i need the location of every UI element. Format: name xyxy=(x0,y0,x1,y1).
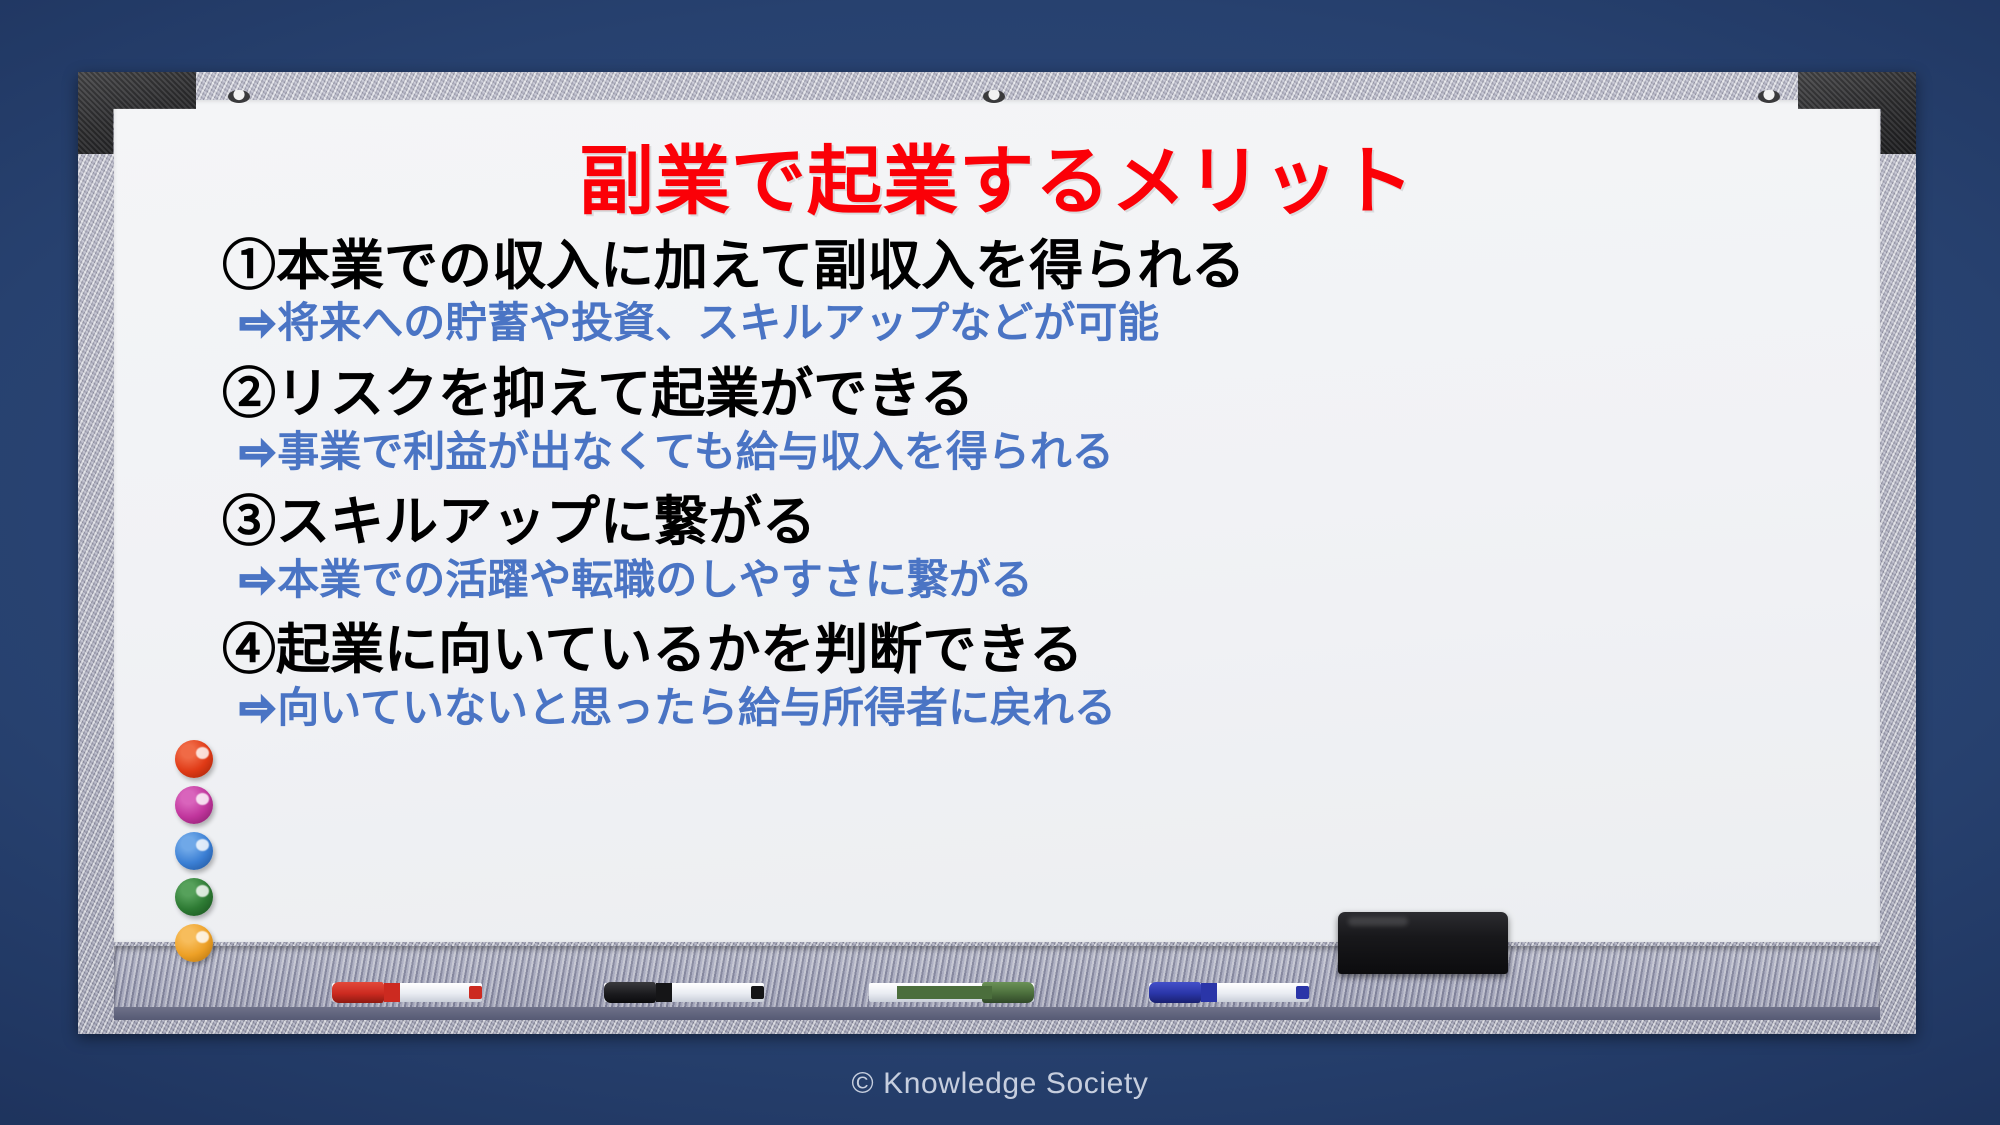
magnet-strip xyxy=(175,740,213,970)
slide-canvas: 副業で起業するメリット ①本業での収入に加えて副収入を得られる ⇨将来への貯蓄や… xyxy=(0,0,2000,1125)
marker-band xyxy=(1201,983,1217,1002)
magnet-blue[interactable] xyxy=(175,832,213,870)
bullet-sub-4: ⇨向いていないと思ったら給与所得者に戻れる xyxy=(222,683,1840,733)
magnet-orange[interactable] xyxy=(175,924,213,962)
bullet-sub-text-3: 本業での活躍や転職のしやすさに繋がる xyxy=(277,556,1033,603)
marker-tray-lip xyxy=(114,1007,1880,1020)
bullet-block-2: ②リスクを抑えて起業ができる ⇨事業で利益が出なくても給与収入を得られる xyxy=(222,363,1840,477)
bullet-block-3: ③スキルアップに繋がる ⇨本業での活躍や転職のしやすさに繋がる xyxy=(222,491,1840,605)
bullet-sub-text-2: 事業で利益が出なくても給与収入を得られる xyxy=(277,428,1114,475)
marker-cap xyxy=(604,982,656,1003)
whiteboard-eraser[interactable] xyxy=(1338,912,1508,974)
marker-cap xyxy=(332,982,384,1003)
frame-screw-center xyxy=(983,90,1005,103)
arrow-right-icon: ⇨ xyxy=(240,683,275,733)
bullet-sub-2: ⇨事業で利益が出なくても給与収入を得られる xyxy=(222,427,1840,477)
arrow-right-icon: ⇨ xyxy=(240,555,275,605)
marker-band xyxy=(897,986,992,999)
bullet-main-4: ④起業に向いているかを判断できる xyxy=(222,619,1840,683)
marker-green[interactable] xyxy=(869,983,1034,1002)
marker-tip xyxy=(751,986,764,999)
marker-cap xyxy=(1149,982,1201,1003)
whiteboard: 副業で起業するメリット ①本業での収入に加えて副収入を得られる ⇨将来への貯蓄や… xyxy=(78,72,1916,1034)
bullet-sub-1: ⇨将来への貯蓄や投資、スキルアップなどが可能 xyxy=(222,298,1840,348)
bullet-main-1: ①本業での収入に加えて副収入を得られる xyxy=(222,235,1840,299)
bullet-block-4: ④起業に向いているかを判断できる ⇨向いていないと思ったら給与所得者に戻れる xyxy=(222,619,1840,733)
marker-tip xyxy=(1296,986,1309,999)
frame-screw-left xyxy=(228,90,250,103)
marker-red[interactable] xyxy=(332,983,482,1002)
bullet-main-3: ③スキルアップに繋がる xyxy=(222,491,1840,555)
bullet-block-1: ①本業での収入に加えて副収入を得られる ⇨将来への貯蓄や投資、スキルアップなどが… xyxy=(222,235,1840,349)
marker-band xyxy=(384,983,400,1002)
slide-title: 副業で起業するメリット xyxy=(154,142,1840,221)
arrow-right-icon: ⇨ xyxy=(240,298,275,348)
marker-band xyxy=(656,983,672,1002)
bullet-sub-text-1: 将来への貯蓄や投資、スキルアップなどが可能 xyxy=(277,299,1159,346)
frame-screw-right xyxy=(1758,90,1780,103)
magnet-green[interactable] xyxy=(175,878,213,916)
bullet-list: ①本業での収入に加えて副収入を得られる ⇨将来への貯蓄や投資、スキルアップなどが… xyxy=(154,235,1840,733)
arrow-right-icon: ⇨ xyxy=(240,427,275,477)
magnet-red[interactable] xyxy=(175,740,213,778)
marker-blue[interactable] xyxy=(1149,983,1309,1002)
bullet-sub-3: ⇨本業での活躍や転職のしやすさに繋がる xyxy=(222,555,1840,605)
marker-black[interactable] xyxy=(604,983,764,1002)
marker-tray xyxy=(114,946,1880,1020)
magnet-magenta[interactable] xyxy=(175,786,213,824)
bullet-main-2: ②リスクを抑えて起業ができる xyxy=(222,363,1840,427)
slide-content: 副業で起業するメリット ①本業での収入に加えて副収入を得られる ⇨将来への貯蓄や… xyxy=(114,100,1880,942)
marker-tip xyxy=(469,986,482,999)
bullet-sub-text-4: 向いていないと思ったら給与所得者に戻れる xyxy=(277,684,1116,731)
footer-copyright: © Knowledge Society xyxy=(0,1067,2000,1101)
